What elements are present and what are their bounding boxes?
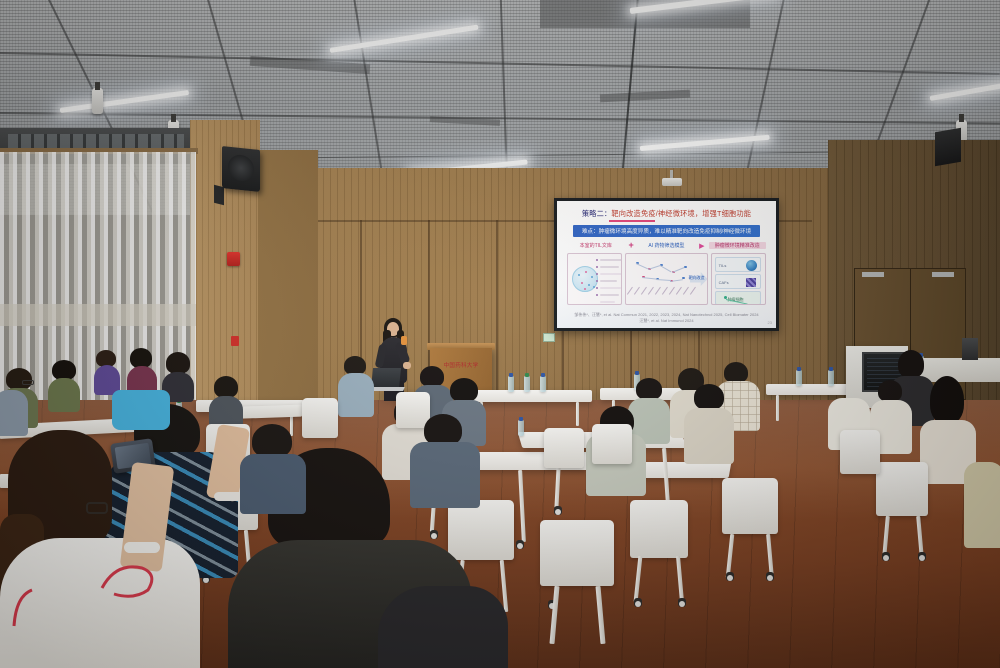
diagram-panel-left bbox=[567, 253, 622, 305]
water-bottle[interactable] bbox=[796, 370, 802, 386]
slide-subtitle: 难点：肿瘤微环境高度异质，难以精准靶向改造免疫抑制/神经微环境 bbox=[573, 225, 760, 237]
fire-alarm-icon bbox=[227, 252, 240, 266]
chair[interactable] bbox=[840, 430, 880, 474]
column-header-middle: AI 药物筛选模型 bbox=[638, 242, 695, 249]
eyeglasses-icon bbox=[86, 502, 108, 514]
slide-title-prefix: 策略二： bbox=[582, 209, 612, 219]
cell-icon bbox=[746, 260, 757, 271]
shirt-collar bbox=[112, 390, 170, 430]
wall-speaker-icon bbox=[222, 146, 260, 192]
water-bottle[interactable] bbox=[540, 376, 546, 392]
outcome-card: 肿瘤细胞 bbox=[715, 291, 761, 305]
fire-alarm-icon bbox=[231, 336, 239, 346]
cell-cluster-icon bbox=[572, 266, 598, 292]
slide-column-headers: 本室的TIL文库 + AI 药物筛选模型 ▶ 肿瘤微环境精准改造 bbox=[567, 241, 766, 250]
outcome-label-cafs: CAFs bbox=[719, 280, 729, 285]
door-hinge bbox=[932, 272, 954, 277]
presentation-screen[interactable]: 策略二：靶向改造免疫/神经微环境，增强T细胞功能 难点：肿瘤微环境高度异质，难以… bbox=[554, 198, 779, 331]
title-underline bbox=[609, 220, 655, 222]
podium-engraving: 中国药科大学 bbox=[436, 361, 486, 369]
slide-title-main: 靶向改造免疫/神经微环境，增强T细胞功能 bbox=[611, 209, 751, 219]
chair-caster bbox=[430, 530, 438, 539]
projector-icon bbox=[662, 178, 682, 186]
chair-caster bbox=[726, 572, 734, 581]
chair-caster bbox=[882, 552, 890, 561]
plus-icon: + bbox=[628, 241, 633, 250]
play-arrow-icon: ▶ bbox=[699, 242, 704, 250]
presenter-laptop[interactable] bbox=[371, 368, 401, 388]
outcome-label-tils: TILs bbox=[719, 263, 727, 268]
chair[interactable] bbox=[722, 478, 778, 534]
track-spotlight bbox=[92, 88, 103, 114]
chair-caster bbox=[678, 598, 686, 607]
chair[interactable] bbox=[540, 520, 614, 586]
outcome-card: TILs bbox=[715, 257, 761, 272]
door-hinge bbox=[862, 272, 884, 277]
chair[interactable] bbox=[630, 500, 688, 558]
slide-page-number: 23 bbox=[768, 320, 772, 325]
chair-caster bbox=[918, 552, 926, 561]
chair[interactable] bbox=[876, 462, 928, 516]
chair[interactable] bbox=[544, 428, 584, 468]
arrow-label: 靶向改造 bbox=[689, 275, 705, 281]
equipment-box bbox=[962, 338, 978, 360]
water-bottle[interactable] bbox=[524, 376, 530, 392]
water-bottle[interactable] bbox=[508, 376, 514, 392]
citation-line-2: 汪慧*, et al. Nat Immunol 2024 bbox=[567, 318, 766, 324]
water-bottle[interactable] bbox=[828, 370, 834, 386]
matrix-icon bbox=[746, 278, 756, 287]
column-header-left: 本室的TIL文库 bbox=[567, 242, 624, 249]
slide-title: 策略二：靶向改造免疫/神经微环境，增强T细胞功能 bbox=[565, 207, 768, 220]
seminar-room-photo: 策略二：靶向改造免疫/神经微环境，增强T细胞功能 难点：肿瘤微环境高度异质，难以… bbox=[0, 0, 1000, 668]
chair-caster bbox=[516, 540, 524, 549]
wall-speaker-icon bbox=[935, 128, 961, 167]
water-bottle[interactable] bbox=[518, 420, 524, 436]
exit-sign-icon bbox=[543, 333, 555, 342]
slide-content: 策略二：靶向改造免疫/神经微环境，增强T细胞功能 难点：肿瘤微环境高度异质，难以… bbox=[557, 201, 776, 328]
outcome-card: CAFs bbox=[715, 274, 761, 289]
shirt-logo bbox=[96, 560, 162, 600]
eyeglasses-icon bbox=[22, 380, 34, 385]
chair[interactable] bbox=[448, 500, 514, 560]
ceiling-duct bbox=[540, 0, 750, 28]
left-wall-return bbox=[258, 150, 318, 426]
speaker-mount bbox=[214, 185, 224, 205]
shirt-logo-secondary bbox=[6, 582, 46, 632]
microphone-icon bbox=[401, 336, 407, 345]
chair[interactable] bbox=[592, 424, 632, 464]
chair-caster bbox=[634, 598, 642, 607]
chair[interactable] bbox=[302, 398, 338, 438]
chair-caster bbox=[766, 572, 774, 581]
diagram-panel-right: TILs CAFs 肿瘤细胞 bbox=[711, 253, 766, 305]
chair-caster bbox=[554, 506, 562, 515]
table bbox=[468, 390, 592, 402]
diagram-panel-middle: 靶向改造 bbox=[625, 253, 707, 305]
slide-citation: 邹伟伟*、汪慧*, et al. Nat Commun 2021, 2022, … bbox=[567, 312, 766, 324]
slide-body: 本室的TIL文库 + AI 药物筛选模型 ▶ 肿瘤微环境精准改造 bbox=[567, 241, 766, 306]
wristband bbox=[124, 542, 160, 553]
slide-diagram: 靶向改造 TILs CAFs 肿瘤细胞 bbox=[567, 253, 766, 305]
column-header-right: 肿瘤微环境精准改造 bbox=[709, 242, 766, 249]
